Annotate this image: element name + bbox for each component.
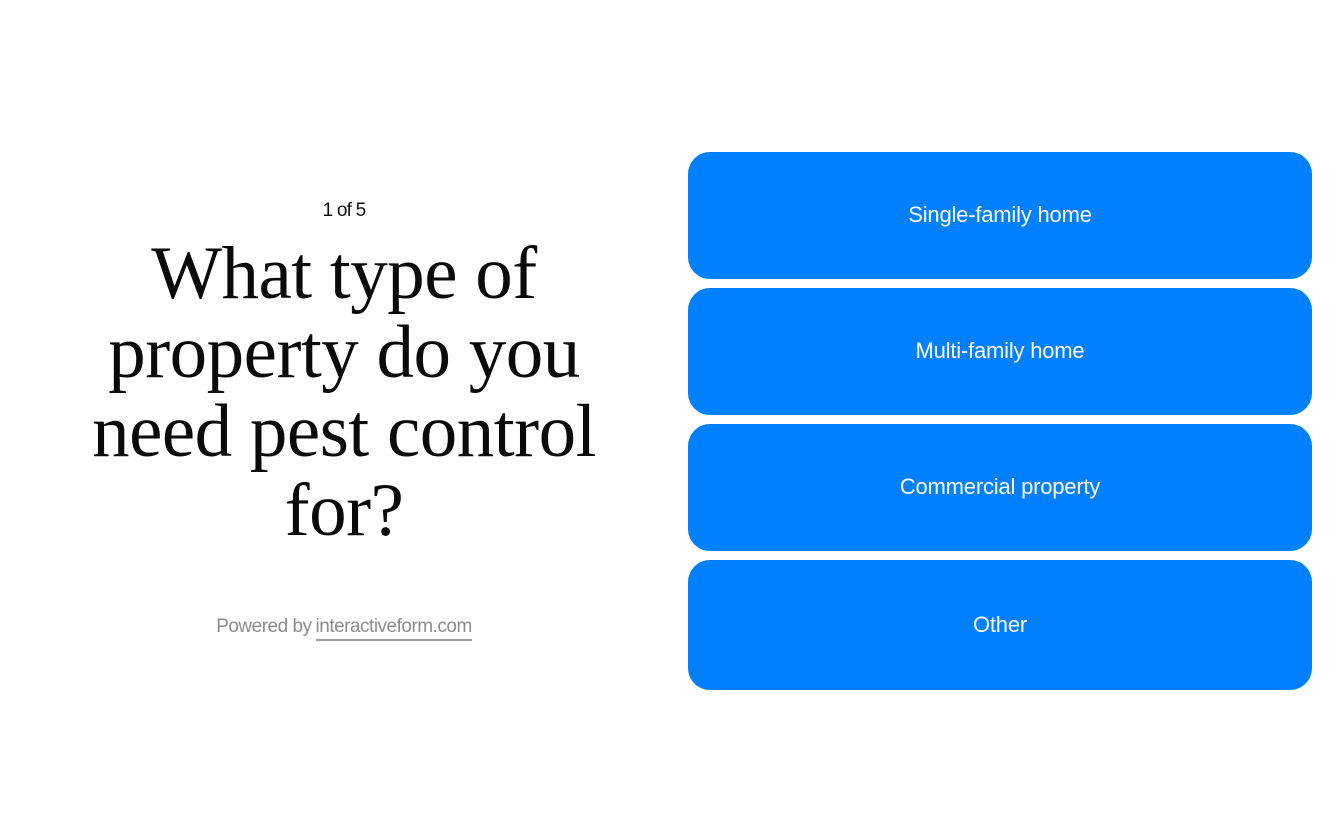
question-panel: 1 of 5 What type of property do you need… — [0, 0, 688, 840]
powered-by-footer: Powered byinteractiveform.com — [216, 616, 472, 639]
option-label: Other — [973, 612, 1027, 638]
step-counter: 1 of 5 — [323, 201, 366, 220]
interactiveform-link[interactable]: interactiveform.com — [316, 616, 472, 641]
option-button-multi-family-home[interactable]: Multi-family home — [688, 288, 1312, 415]
option-button-other[interactable]: Other — [688, 560, 1312, 690]
option-label: Multi-family home — [916, 338, 1085, 364]
option-button-commercial-property[interactable]: Commercial property — [688, 424, 1312, 551]
question-title: What type of property do you need pest c… — [84, 234, 604, 550]
answer-options-list: Single-family home Multi-family home Com… — [688, 152, 1312, 690]
option-button-single-family-home[interactable]: Single-family home — [688, 152, 1312, 279]
option-label: Commercial property — [900, 474, 1100, 500]
interactive-form-screen: 1 of 5 What type of property do you need… — [0, 0, 1344, 840]
powered-by-label: Powered by — [216, 616, 311, 637]
option-label: Single-family home — [908, 202, 1091, 228]
